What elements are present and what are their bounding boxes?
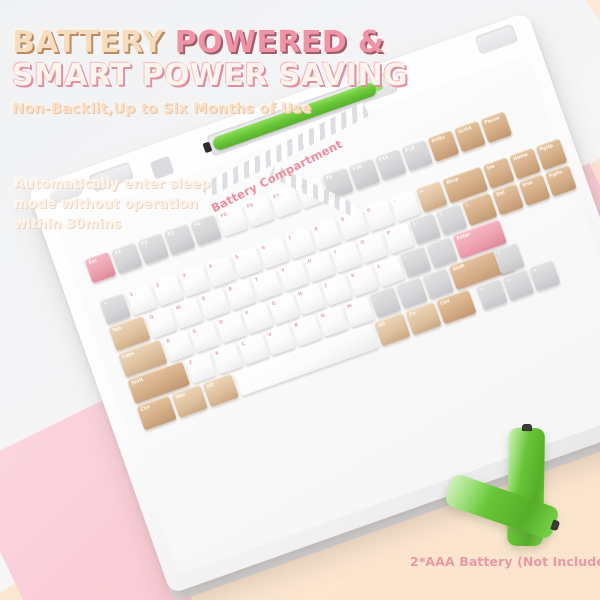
keycap-legend: K — [350, 273, 355, 279]
keycap-alt[interactable]: Alt — [202, 374, 239, 408]
keycap-legend: 1 — [129, 292, 134, 298]
keycap-f1[interactable]: F1 — [111, 242, 143, 274]
keycap-legend: Tab — [112, 326, 122, 334]
keycap-legend: W — [175, 305, 182, 312]
keycap-legend: R — [228, 286, 233, 292]
keycap-legend: F — [245, 310, 250, 316]
keycap-legend: Esc — [88, 258, 98, 266]
battery-positive-terminal — [550, 519, 560, 531]
keycap-legend: U — [307, 258, 312, 264]
keycap--[interactable]: ↓ — [502, 269, 534, 301]
keycap-legend: / — [426, 276, 429, 282]
keycap-legend: 3 — [182, 273, 187, 279]
keycap-prtsc[interactable]: PrtSc — [428, 130, 460, 162]
keycap-alt[interactable]: Alt — [374, 313, 411, 347]
keycap-legend: A — [166, 338, 171, 344]
keycap-legend: ~ — [103, 301, 109, 308]
headline-battery-word: BATTERY — [12, 25, 175, 60]
keycap-legend: F12 — [405, 145, 416, 153]
keycap-legend: E — [201, 296, 206, 302]
keycap-legend: 2 — [155, 282, 160, 288]
keycap-legend: → — [532, 268, 538, 275]
keycap-legend: PgDn — [548, 169, 563, 179]
keycap-legend: O — [360, 239, 366, 246]
keycap-esc[interactable]: Esc — [84, 251, 116, 283]
keycap-legend: 7 — [287, 236, 292, 242]
keycap--[interactable]: → — [529, 260, 561, 292]
keycap-legend: PrtSc — [431, 135, 446, 145]
keycap-win[interactable]: Win — [171, 385, 208, 419]
keycap-legend: ] — [439, 212, 443, 218]
keycap-legend: 4 — [208, 264, 213, 270]
keycap-legend: I — [333, 250, 336, 256]
keycap-legend: L — [377, 264, 382, 270]
feature-description-block: Automatically enter sleep mode without o… — [14, 174, 229, 234]
keycap-f2[interactable]: F2 — [137, 233, 169, 265]
keycap-legend: X — [215, 350, 220, 356]
keycap-legend: ← — [479, 286, 485, 293]
keycap-legend: Shift — [452, 263, 466, 272]
keycap-legend: F2 — [141, 240, 149, 247]
keycap-legend: ScrLk — [457, 125, 472, 135]
headline-powered-word: POWERED & — [175, 25, 385, 60]
keycap-legend: C — [241, 341, 246, 347]
feature-description-line-2: mode without operation — [14, 194, 229, 214]
keycap-legend: ; — [403, 255, 407, 261]
keycap-legend: M — [347, 303, 353, 310]
keycap-legend: Fn — [409, 310, 417, 317]
keycap-legend: H — [298, 291, 304, 298]
keycap-legend: Shift — [131, 377, 145, 386]
keycap-legend: Home — [513, 152, 529, 162]
keycap-legend: Alt — [378, 321, 387, 329]
keycap-legend: Caps — [121, 351, 135, 360]
keycap-legend: ' — [430, 245, 433, 251]
keycap-legend: ↑ — [496, 251, 502, 258]
battery-positive-terminal — [522, 424, 532, 431]
keycap-legend: Del — [496, 190, 506, 198]
keycap-scrlk[interactable]: ScrLk — [454, 121, 486, 153]
keycap-legend: D — [218, 319, 224, 325]
keycap-legend: Win — [175, 392, 186, 401]
keycap-legend: , — [373, 295, 376, 301]
keycap-legend: G — [271, 301, 276, 307]
keycap-fn[interactable]: Fn — [405, 302, 442, 336]
keycap-legend: [ — [413, 221, 417, 227]
battery-caption: 2*AAA Battery (Not Included) — [410, 554, 600, 569]
keycap-legend: B — [294, 322, 299, 328]
keycap-legend: Ctrl — [140, 405, 151, 413]
keycap-legend: ↓ — [506, 277, 512, 284]
keycap-legend: \ — [465, 203, 468, 209]
keycap-legend: T — [254, 277, 259, 283]
keycap-legend: F1 — [114, 249, 122, 256]
headline-line-2: SMART POWER SAVING — [12, 59, 572, 92]
keycap-legend: . — [399, 286, 402, 292]
keycap-f12[interactable]: F12 — [401, 139, 433, 171]
feature-description-line-3: within 30mins — [14, 214, 229, 234]
spacebar-marker — [305, 366, 313, 370]
feature-description-line-1: Automatically enter sleep — [14, 174, 229, 194]
keycap-legend: N — [320, 313, 326, 320]
aaa-battery-group — [448, 424, 598, 559]
keycap-legend: PgUp — [539, 143, 554, 153]
keycap-pgdn[interactable]: PgDn — [545, 165, 577, 197]
headline-line-1: BATTERY POWERED & — [12, 26, 572, 59]
keycap-legend: Q — [149, 314, 155, 321]
keycap-legend: Enter — [456, 232, 471, 242]
keycap--[interactable]: ← — [476, 278, 508, 310]
keycap-end[interactable]: End — [519, 174, 551, 206]
keycap-legend: Z — [188, 360, 193, 366]
keycap-legend: = — [419, 189, 425, 196]
keycap-legend: 6 — [261, 245, 266, 251]
keycap-legend: Ins — [486, 164, 495, 172]
keycap-legend: Y — [281, 268, 286, 274]
keycap-legend: S — [192, 329, 197, 335]
keycap-legend: J — [324, 283, 327, 289]
keycap-legend: P — [386, 230, 391, 236]
keycap-legend: End — [522, 180, 533, 188]
headline-subtitle: Non-Backlit,Up to Six Months of Use — [12, 101, 572, 117]
headline-block: BATTERY POWERED & SMART POWER SAVING Non… — [12, 26, 572, 117]
keycap-legend: Bksp — [446, 176, 460, 185]
keycap-legend: 5 — [235, 254, 240, 260]
keycap-legend: - — [393, 199, 397, 205]
keycap-legend: V — [267, 332, 272, 338]
keycap-del[interactable]: Del — [492, 184, 524, 216]
keycap-legend: Alt — [206, 382, 215, 390]
keycap-legend: Ctrl — [440, 298, 451, 306]
product-marketing-image: EscF1F2F3F4F5F6F7F8F9F10F11F12PrtScScrLk… — [0, 0, 600, 600]
